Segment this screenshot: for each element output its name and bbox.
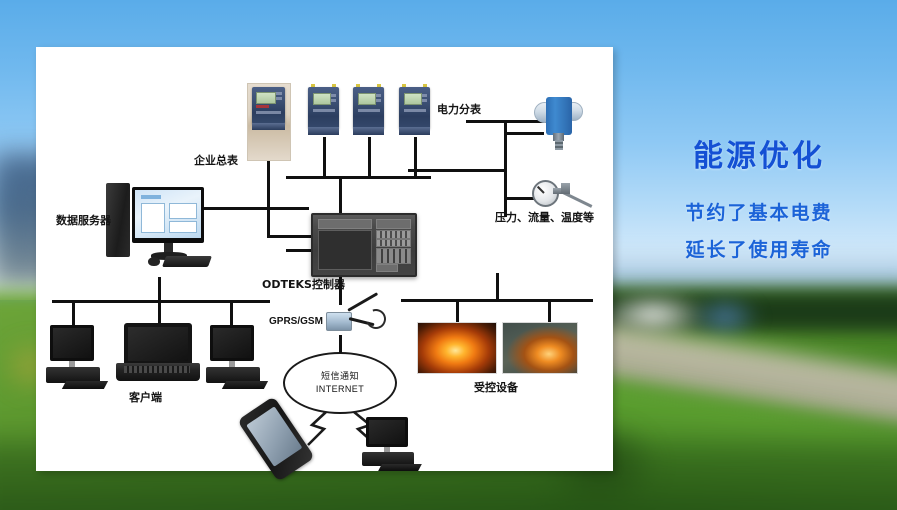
wire-client-left-drop [72, 300, 75, 328]
wire-submeter1-drop [323, 137, 326, 178]
controller-keypad [376, 248, 411, 264]
controller-terminal-row-2 [376, 239, 411, 247]
submeter1-body [308, 87, 339, 129]
label-sensors: 压力、流量、温度等 [495, 212, 594, 223]
submeter3-led-b [422, 99, 427, 102]
laptop-lid [124, 323, 192, 365]
submeter1-strip [313, 109, 335, 112]
label-sub-meters: 电力分表 [437, 104, 481, 115]
wire-controller-to-equipment [496, 273, 499, 301]
slide-canvas: 企业总表 [0, 0, 897, 510]
main-meter-body [252, 87, 285, 124]
submeter3-strip [404, 109, 426, 112]
submeter3-led-a [422, 94, 427, 97]
laptop-keyboard [124, 366, 190, 373]
slide-text-block: 能源优化 节约了基本电费 延长了使用寿命 [628, 140, 890, 261]
wire-server-drop [158, 277, 161, 302]
submeter1-led-a [331, 94, 336, 97]
controller-module-label [376, 219, 411, 229]
wire-sensor-gauge [504, 197, 536, 200]
equipment-foundry-photo [502, 322, 578, 374]
wire-submeter2-drop [368, 137, 371, 178]
wire-sensor-transmitter [504, 132, 544, 135]
controller-nameplate [318, 219, 372, 229]
modem-coil [363, 306, 390, 333]
wireless-bolt-left [308, 412, 326, 445]
server-screen [135, 190, 201, 238]
client-right-keyboard [222, 381, 268, 389]
gauge-fitting [561, 183, 570, 194]
submeter1-lcd [313, 93, 331, 105]
client-left-keyboard [62, 381, 108, 389]
wire-equipment-foundry-drop [548, 299, 551, 324]
diagram-panel: 企业总表 [36, 47, 613, 471]
submeter1-terminal [308, 127, 339, 135]
wire-submeter-bus [286, 176, 431, 179]
wire-submeter-bus-to-controller [339, 176, 342, 216]
wire-client-right-drop [230, 300, 233, 328]
internet-label: INTERNET [316, 383, 364, 395]
internet-sms-label: 短信通知 [321, 371, 359, 383]
submeter3-lcd [404, 93, 422, 105]
transmitter-thread [555, 140, 563, 150]
client-right-monitor [210, 325, 254, 361]
wire-client-laptop-drop [158, 300, 161, 324]
main-meter-indicator-a [276, 92, 282, 95]
server-screen-window-left [141, 203, 165, 233]
server-keyboard [162, 256, 212, 267]
client-left-screen [53, 328, 91, 358]
submeter1-led-b [331, 99, 336, 102]
equipment-furnace-photo [417, 322, 497, 374]
gauge-needle [537, 186, 545, 194]
label-clients: 客户端 [129, 392, 162, 403]
remote-keyboard [378, 464, 422, 471]
transmitter-housing [546, 97, 572, 135]
submeter2-led-a [376, 94, 381, 97]
label-gprs: GPRS/GSM [269, 317, 323, 327]
slide-subline-1: 节约了基本电费 [628, 203, 890, 224]
modem-housing [326, 312, 352, 331]
submeter2-terminal [353, 127, 384, 135]
remote-screen [369, 420, 405, 444]
remote-monitor [366, 417, 408, 447]
submeter3-body [399, 87, 430, 129]
controller-display [318, 230, 372, 270]
laptop-screen [128, 327, 188, 361]
server-screen-window-bottom [169, 221, 197, 233]
server-mouse [148, 257, 160, 266]
server-screen-window-right [169, 203, 197, 219]
wire-equipment-bus [401, 299, 593, 302]
wire-server-to-controller [204, 207, 309, 210]
odteks-controller-device [311, 213, 417, 277]
controller-terminal-row-1 [376, 230, 411, 239]
submeter2-led-b [376, 99, 381, 102]
wire-controller-left-in [286, 249, 314, 252]
submeter3-terminal [399, 127, 430, 135]
submeter2-lcd [358, 93, 376, 105]
wire-sensor-to-controller [408, 169, 506, 172]
client-left-monitor [50, 325, 94, 361]
slide-subline-2: 延长了使用寿命 [628, 240, 890, 261]
submeter2-strip [358, 109, 380, 112]
client-right-screen [213, 328, 251, 358]
submeter2-body [353, 87, 384, 129]
label-data-server: 数据服务器 [56, 215, 111, 226]
slide-headline: 能源优化 [628, 140, 890, 173]
main-meter-button [256, 105, 269, 108]
main-meter-lcd [256, 92, 276, 104]
main-meter-terminal-cover [252, 123, 285, 130]
laptop-base [116, 363, 200, 381]
wire-main-meter-to-controller [267, 235, 311, 238]
label-main-meter: 企业总表 [194, 155, 238, 166]
label-controlled-equipment: 受控设备 [474, 382, 518, 393]
server-screen-bar [141, 195, 161, 199]
network-topology-diagram: 企业总表 [36, 47, 613, 471]
background-blue-object [690, 295, 760, 339]
main-meter-indicator-b [276, 97, 282, 100]
server-monitor [132, 187, 204, 243]
controller-status-strip [376, 264, 398, 272]
wire-equipment-furnace-drop [456, 299, 459, 324]
wire-gprs-to-internet [339, 335, 342, 353]
main-meter-strip [256, 111, 281, 114]
wire-client-bus [52, 300, 270, 303]
label-controller: ODTEKS控制器 [262, 279, 345, 290]
internet-cloud-node: 短信通知 INTERNET [283, 352, 397, 414]
wire-main-meter-drop [267, 159, 270, 237]
